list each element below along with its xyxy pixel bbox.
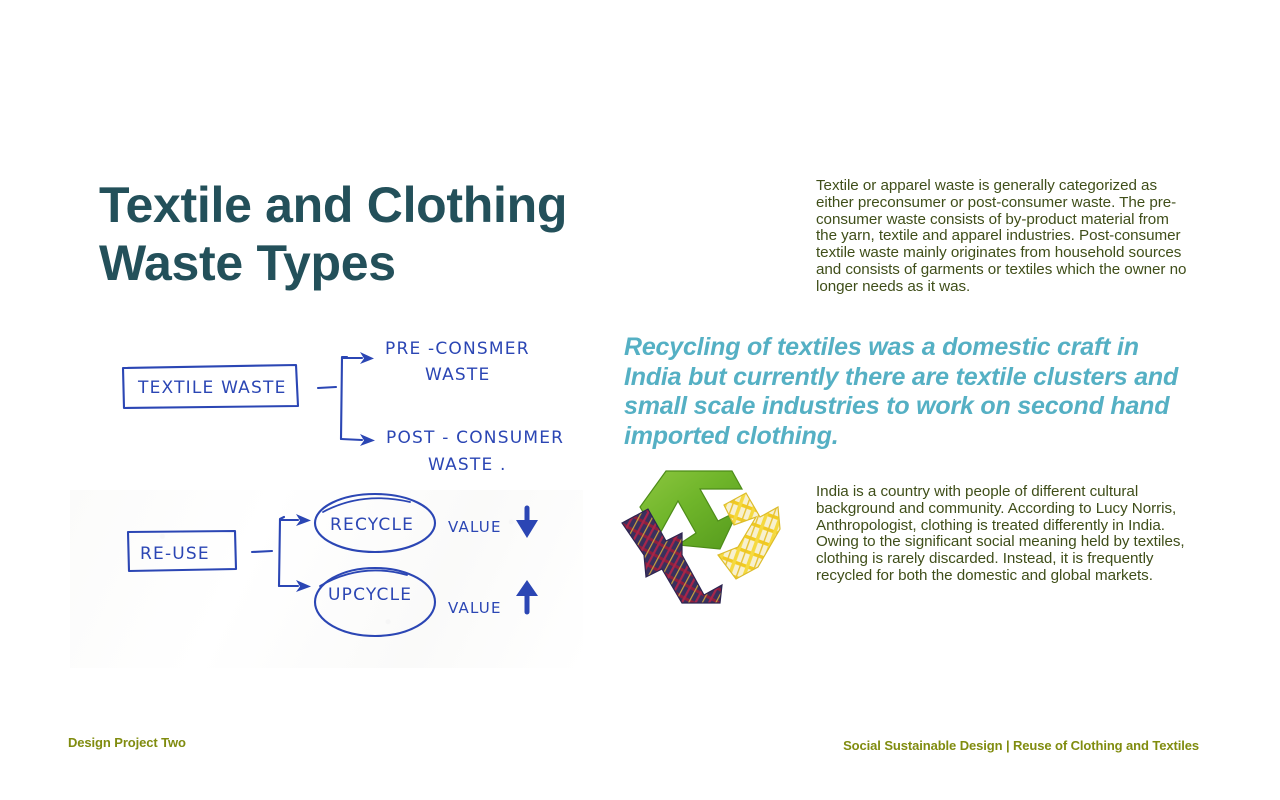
waste-source-label: TEXTILE WASTE	[137, 378, 287, 398]
waste-branch-2-line2: WASTE .	[428, 455, 507, 475]
upcycle-value-label: VALUE	[448, 599, 502, 617]
yellow-plaid-fabric-arrow	[718, 493, 780, 579]
footer-right: Social Sustainable Design | Reuse of Clo…	[843, 738, 1199, 753]
waste-connector	[318, 352, 375, 446]
slide-canvas: Textile and Clothing Waste Types Textile…	[0, 0, 1280, 800]
pull-quote: Recycling of textiles was a domestic cra…	[624, 333, 1190, 451]
diagram-waste-types: TEXTILE WASTE PRE -CONSMER WASTE POST - …	[110, 330, 590, 480]
reuse-connector	[252, 514, 311, 592]
recycle-symbol-image	[600, 465, 794, 610]
india-paragraph: India is a country with people of differ…	[816, 484, 1192, 585]
intro-paragraph: Textile or apparel waste is generally ca…	[816, 178, 1188, 296]
diagram-reuse-paths: RE-USE RECYCLE UPCYCLE	[70, 490, 583, 668]
waste-branch-2-line1: POST - CONSUMER	[386, 428, 564, 448]
recycle-node-label: RECYCLE	[330, 515, 414, 535]
upcycle-node-label: UPCYCLE	[328, 585, 412, 605]
recycle-value-label: VALUE	[448, 518, 502, 536]
waste-branch-1-line2: WASTE	[425, 365, 490, 385]
reuse-source-label: RE-USE	[140, 544, 210, 564]
waste-branch-1-line1: PRE -CONSMER	[385, 339, 530, 359]
up-arrow-icon	[516, 580, 538, 612]
down-arrow-icon	[516, 508, 538, 538]
page-title: Textile and Clothing Waste Types	[99, 176, 639, 292]
footer-left: Design Project Two	[68, 735, 186, 750]
